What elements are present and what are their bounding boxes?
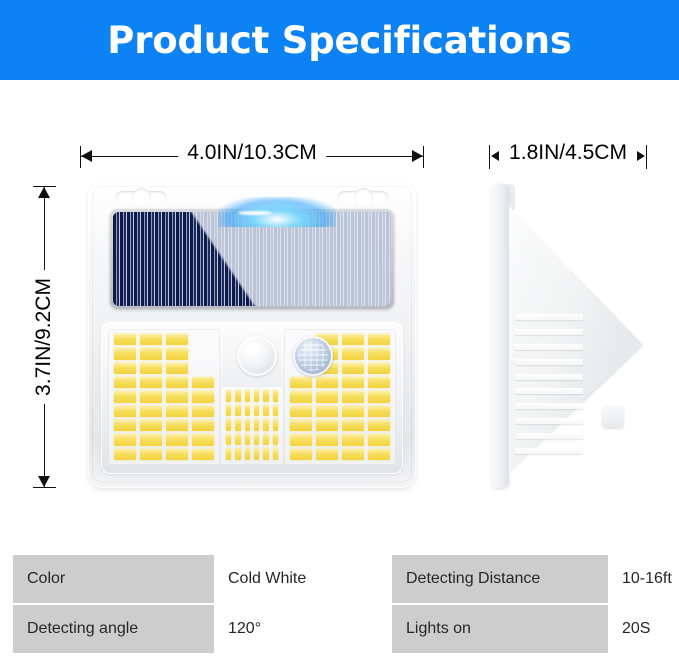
led-chip bbox=[254, 390, 259, 402]
solar-panel bbox=[110, 209, 394, 309]
led-chip bbox=[166, 334, 188, 345]
height-dimension-label: 3.7IN/9.2CM bbox=[26, 270, 62, 404]
led-chip bbox=[368, 391, 390, 402]
spec-value-lights-on: 20S bbox=[608, 605, 679, 653]
width-dimension-label: 4.0IN/10.3CM bbox=[178, 141, 326, 165]
led-chip bbox=[235, 448, 240, 460]
spec-value-detecting-distance: 10-16ft bbox=[608, 555, 679, 603]
led-chip bbox=[235, 419, 240, 431]
heatsink-fin bbox=[515, 374, 583, 380]
led-chip bbox=[316, 449, 338, 460]
led-chip bbox=[226, 448, 231, 460]
height-dimension: 3.7IN/9.2CM bbox=[31, 186, 57, 488]
led-chip bbox=[263, 448, 268, 460]
spec-key-color: Color bbox=[13, 555, 214, 603]
led-chip bbox=[166, 406, 188, 417]
side-view-mounting-foot bbox=[602, 406, 624, 428]
led-chip bbox=[316, 406, 338, 417]
led-chip bbox=[192, 406, 214, 417]
led-chip bbox=[316, 420, 338, 431]
spec-key-detecting-distance: Detecting Distance bbox=[392, 555, 608, 603]
led-chip bbox=[342, 420, 364, 431]
led-chip bbox=[368, 420, 390, 431]
led-chip bbox=[226, 405, 231, 417]
led-chip bbox=[263, 419, 268, 431]
depth-dimension: 1.8IN/4.5CM bbox=[489, 140, 647, 174]
led-chip bbox=[316, 391, 338, 402]
led-chip bbox=[140, 348, 162, 359]
solar-motion-light-front-view bbox=[88, 182, 416, 488]
led-chip bbox=[368, 434, 390, 445]
spec-key-detecting-angle: Detecting angle bbox=[13, 605, 214, 653]
depth-dimension-label: 1.8IN/4.5CM bbox=[509, 141, 627, 165]
heatsink-fin bbox=[515, 418, 583, 424]
led-chip bbox=[342, 434, 364, 445]
led-chip bbox=[245, 405, 250, 417]
led-chip bbox=[140, 391, 162, 402]
led-chip bbox=[192, 449, 214, 460]
heatsink-fin bbox=[515, 388, 583, 394]
led-chip bbox=[290, 391, 312, 402]
led-chip bbox=[114, 434, 136, 445]
led-chip bbox=[235, 390, 240, 402]
side-view-heatsink-fins bbox=[515, 314, 583, 454]
led-chip bbox=[140, 363, 162, 374]
led-chip bbox=[192, 420, 214, 431]
led-chip bbox=[254, 405, 259, 417]
led-panel-left bbox=[108, 329, 220, 465]
dimension-cap-left bbox=[489, 145, 490, 169]
led-chip bbox=[273, 405, 278, 417]
led-chip bbox=[114, 420, 136, 431]
led-chip bbox=[368, 348, 390, 359]
dimension-cap-bottom bbox=[33, 487, 56, 488]
led-chip bbox=[140, 334, 162, 345]
arrow-right-icon bbox=[637, 151, 645, 161]
heatsink-fin bbox=[515, 403, 583, 409]
led-chip bbox=[254, 434, 259, 446]
led-chip bbox=[254, 448, 259, 460]
mounting-slot-left bbox=[116, 191, 166, 204]
led-chip bbox=[316, 377, 338, 388]
dimension-cap-right bbox=[646, 145, 647, 169]
spec-key-lights-on: Lights on bbox=[392, 605, 608, 653]
led-chip bbox=[140, 434, 162, 445]
light-sensor-dome-icon bbox=[237, 336, 277, 376]
led-chip bbox=[368, 406, 390, 417]
led-chip bbox=[114, 334, 136, 345]
led-chip bbox=[368, 449, 390, 460]
table-row: Color Cold White Detecting Distance 10-1… bbox=[13, 555, 679, 603]
led-chip bbox=[235, 405, 240, 417]
led-chip bbox=[342, 406, 364, 417]
spec-value-color: Cold White bbox=[214, 555, 392, 603]
led-chip bbox=[342, 363, 364, 374]
heatsink-fin bbox=[515, 329, 583, 335]
led-chip bbox=[290, 377, 312, 388]
heatsink-fin bbox=[515, 359, 583, 365]
arrow-down-icon bbox=[38, 476, 50, 487]
led-chip bbox=[140, 377, 162, 388]
solar-panel-glow bbox=[218, 197, 336, 227]
led-chip bbox=[290, 406, 312, 417]
spec-value-detecting-angle: 120° bbox=[214, 605, 392, 653]
side-view-backplate bbox=[492, 184, 509, 488]
arrow-left-icon bbox=[81, 150, 92, 162]
led-chip bbox=[114, 391, 136, 402]
heatsink-fin bbox=[515, 448, 583, 454]
heatsink-fin bbox=[515, 344, 583, 350]
led-chip bbox=[342, 391, 364, 402]
heatsink-fin bbox=[515, 314, 583, 320]
led-chip bbox=[273, 448, 278, 460]
led-chip bbox=[166, 420, 188, 431]
led-chip bbox=[245, 390, 250, 402]
led-chip bbox=[140, 449, 162, 460]
led-chip bbox=[166, 391, 188, 402]
dimension-cap-right bbox=[423, 146, 424, 168]
led-chip bbox=[235, 434, 240, 446]
led-chip bbox=[114, 449, 136, 460]
mounting-slot-right bbox=[338, 191, 388, 204]
width-dimension: 4.0IN/10.3CM bbox=[80, 140, 424, 174]
led-chip bbox=[245, 434, 250, 446]
header-banner: Product Specifications bbox=[0, 0, 679, 80]
led-chip bbox=[273, 419, 278, 431]
led-chip bbox=[245, 419, 250, 431]
arrow-left-icon bbox=[491, 151, 499, 161]
led-chip bbox=[166, 363, 188, 374]
led-chip bbox=[273, 434, 278, 446]
led-chip bbox=[290, 449, 312, 460]
page-title: Product Specifications bbox=[107, 19, 571, 62]
led-grid-center bbox=[220, 385, 284, 465]
led-chip bbox=[114, 406, 136, 417]
heatsink-fin bbox=[515, 433, 583, 439]
led-chip bbox=[342, 377, 364, 388]
led-chip bbox=[245, 448, 250, 460]
solar-motion-light-side-view bbox=[492, 184, 644, 488]
led-chip bbox=[166, 348, 188, 359]
led-chip bbox=[342, 449, 364, 460]
led-chip bbox=[226, 434, 231, 446]
led-chip bbox=[114, 348, 136, 359]
led-chip bbox=[368, 334, 390, 345]
led-chip bbox=[254, 419, 259, 431]
table-row: Detecting angle 120° Lights on 20S bbox=[13, 605, 679, 653]
led-chip bbox=[192, 434, 214, 445]
led-chip bbox=[192, 377, 214, 388]
led-grid-left bbox=[108, 329, 220, 465]
led-chip bbox=[316, 434, 338, 445]
arrow-right-icon bbox=[412, 150, 423, 162]
led-chip bbox=[263, 405, 268, 417]
led-chip bbox=[226, 390, 231, 402]
led-chip bbox=[263, 390, 268, 402]
pir-motion-sensor-dome-icon bbox=[293, 336, 333, 376]
led-chip bbox=[263, 434, 268, 446]
led-chip bbox=[368, 363, 390, 374]
solar-panel-glow-core bbox=[238, 211, 272, 215]
led-chip bbox=[226, 419, 231, 431]
arrow-up-icon bbox=[38, 187, 50, 198]
led-chip bbox=[290, 434, 312, 445]
led-chip bbox=[114, 377, 136, 388]
led-chip bbox=[290, 420, 312, 431]
led-housing bbox=[101, 322, 403, 474]
led-chip bbox=[114, 363, 136, 374]
led-chip bbox=[166, 377, 188, 388]
led-chip bbox=[140, 420, 162, 431]
led-chip bbox=[166, 449, 188, 460]
led-chip bbox=[342, 334, 364, 345]
specification-table: Color Cold White Detecting Distance 10-1… bbox=[13, 553, 679, 655]
led-panel-center bbox=[220, 385, 284, 465]
led-chip bbox=[273, 390, 278, 402]
led-chip bbox=[140, 406, 162, 417]
led-chip bbox=[342, 348, 364, 359]
led-chip bbox=[368, 377, 390, 388]
led-chip bbox=[192, 391, 214, 402]
led-chip bbox=[166, 434, 188, 445]
